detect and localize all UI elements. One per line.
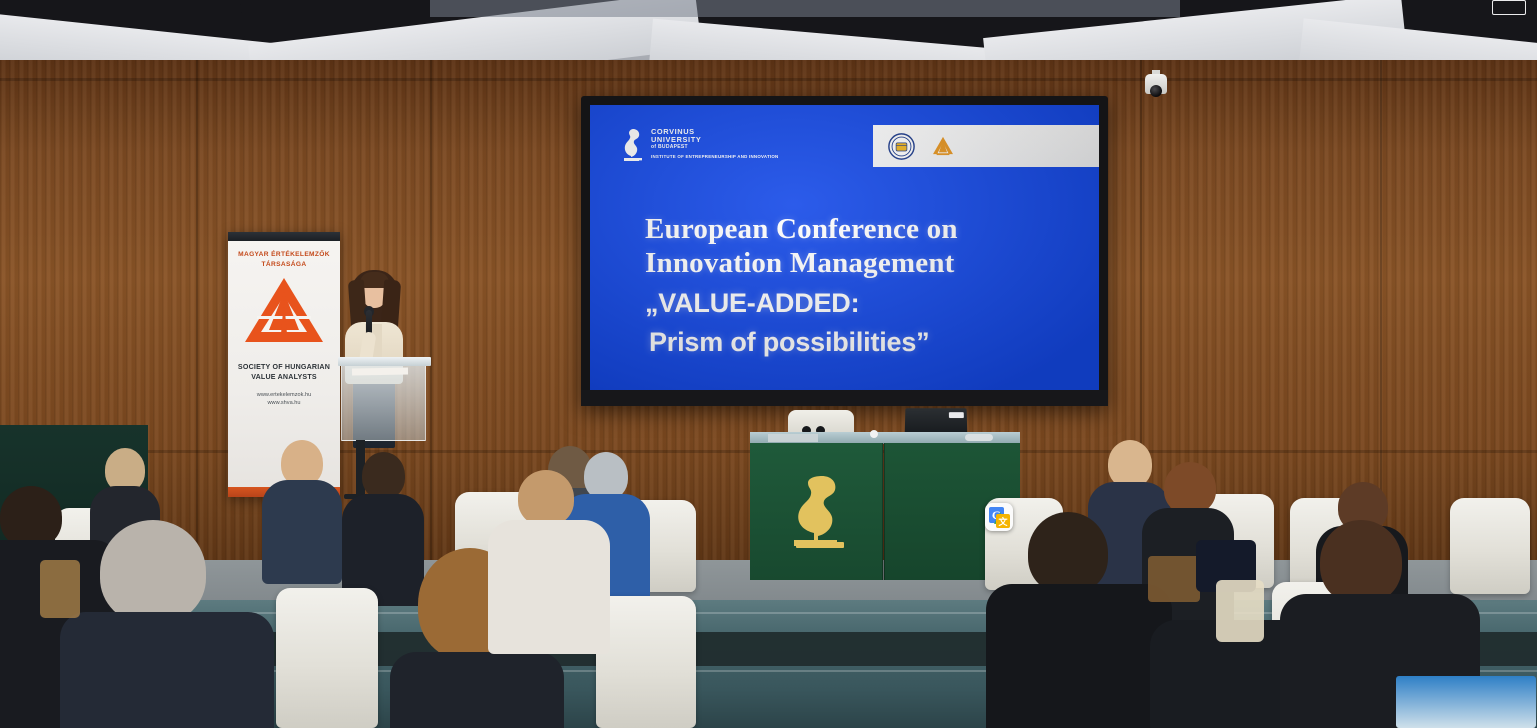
translate-char-glyph: 文 <box>996 514 1010 528</box>
banner-title-line-1: MAGYAR ÉRTÉKELEMZŐK <box>228 250 340 260</box>
wall-mounted-camera-icon <box>1143 70 1169 102</box>
banner-url-1: www.ertekelemzok.hu <box>228 391 340 399</box>
camera-lens <box>1150 85 1162 97</box>
slide: CORVINUS UNIVERSITY of BUDAPEST INSTITUT… <box>590 105 1099 390</box>
banner-top-rail <box>228 232 340 241</box>
orange-triangle-emblem-icon <box>243 276 325 348</box>
subtitles-button[interactable] <box>1492 0 1526 15</box>
presentation-display[interactable]: CORVINUS UNIVERSITY of BUDAPEST INSTITUT… <box>581 96 1108 406</box>
banner-title-line-2: TÁRSASÁGA <box>228 260 340 270</box>
corvinus-logo: CORVINUS UNIVERSITY of BUDAPEST INSTITUT… <box>622 128 778 162</box>
left-green-structure <box>0 425 148 625</box>
presidium-desk <box>750 432 1020 580</box>
orange-triangle-logo-icon <box>931 136 955 156</box>
lectern-top <box>338 357 431 366</box>
wall-band <box>0 78 1537 81</box>
floor-joint <box>0 670 1537 672</box>
lectern-notes <box>352 368 408 376</box>
banner-url-2: www.shva.hu <box>228 399 340 407</box>
circular-seal-icon <box>888 133 915 160</box>
banner-subtitle-line-2: VALUE ANALYSTS <box>228 372 340 382</box>
logo-line-3: of BUDAPEST <box>651 145 778 150</box>
corvinus-raven-emblem-icon <box>788 472 852 554</box>
display-bezel <box>581 390 1108 406</box>
desk-papers <box>768 434 818 442</box>
banner-bottom-rail <box>228 487 340 497</box>
slide-title-line-2: Innovation Management <box>645 247 1081 281</box>
banner-subtitle: SOCIETY OF HUNGARIAN VALUE ANALYSTS <box>228 362 340 383</box>
video-frame: CORVINUS UNIVERSITY of BUDAPEST INSTITUT… <box>0 0 1537 728</box>
laptop-sticker <box>949 412 964 418</box>
desk-cable <box>965 434 993 441</box>
wall-seam <box>430 60 432 580</box>
conference-room: CORVINUS UNIVERSITY of BUDAPEST INSTITUT… <box>0 0 1537 728</box>
google-translate-icon[interactable]: G 文 <box>985 503 1013 531</box>
partner-logo-band <box>873 125 1099 167</box>
corvinus-raven-icon <box>622 128 644 162</box>
slide-subtitle-line-1: „VALUE-ADDED: <box>645 288 1081 320</box>
banner-urls: www.ertekelemzok.hu www.shva.hu <box>228 391 340 408</box>
floor-dark-band <box>0 632 1537 666</box>
slide-title-line-1: European Conference on <box>645 213 1081 247</box>
rollup-banner: MAGYAR ÉRTÉKELEMZŐK TÁRSASÁGA SOCIETY OF… <box>228 232 340 497</box>
wall-seam <box>1140 60 1142 580</box>
corvinus-logo-text: CORVINUS UNIVERSITY of BUDAPEST INSTITUT… <box>651 128 778 159</box>
lectern-base <box>344 494 392 499</box>
floor-joint <box>0 612 1537 614</box>
slide-title-block: European Conference on Innovation Manage… <box>645 213 1081 359</box>
wall-seam <box>1380 60 1382 580</box>
wall-seam <box>196 60 198 580</box>
banner-title: MAGYAR ÉRTÉKELEMZŐK TÁRSASÁGA <box>228 250 340 269</box>
desk-small-object <box>870 430 878 438</box>
lectern-post <box>356 440 365 498</box>
desk-seam <box>882 443 885 580</box>
slide-subtitle-line-2: Prism of possibilities” <box>645 327 1081 359</box>
logo-line-2: UNIVERSITY <box>651 136 778 144</box>
logo-line-4: INSTITUTE OF ENTREPRENEURSHIP AND INNOVA… <box>651 154 778 160</box>
banner-subtitle-line-1: SOCIETY OF HUNGARIAN <box>228 362 340 372</box>
video-player-top-bar[interactable] <box>430 0 1180 17</box>
glass-lectern <box>341 361 426 441</box>
